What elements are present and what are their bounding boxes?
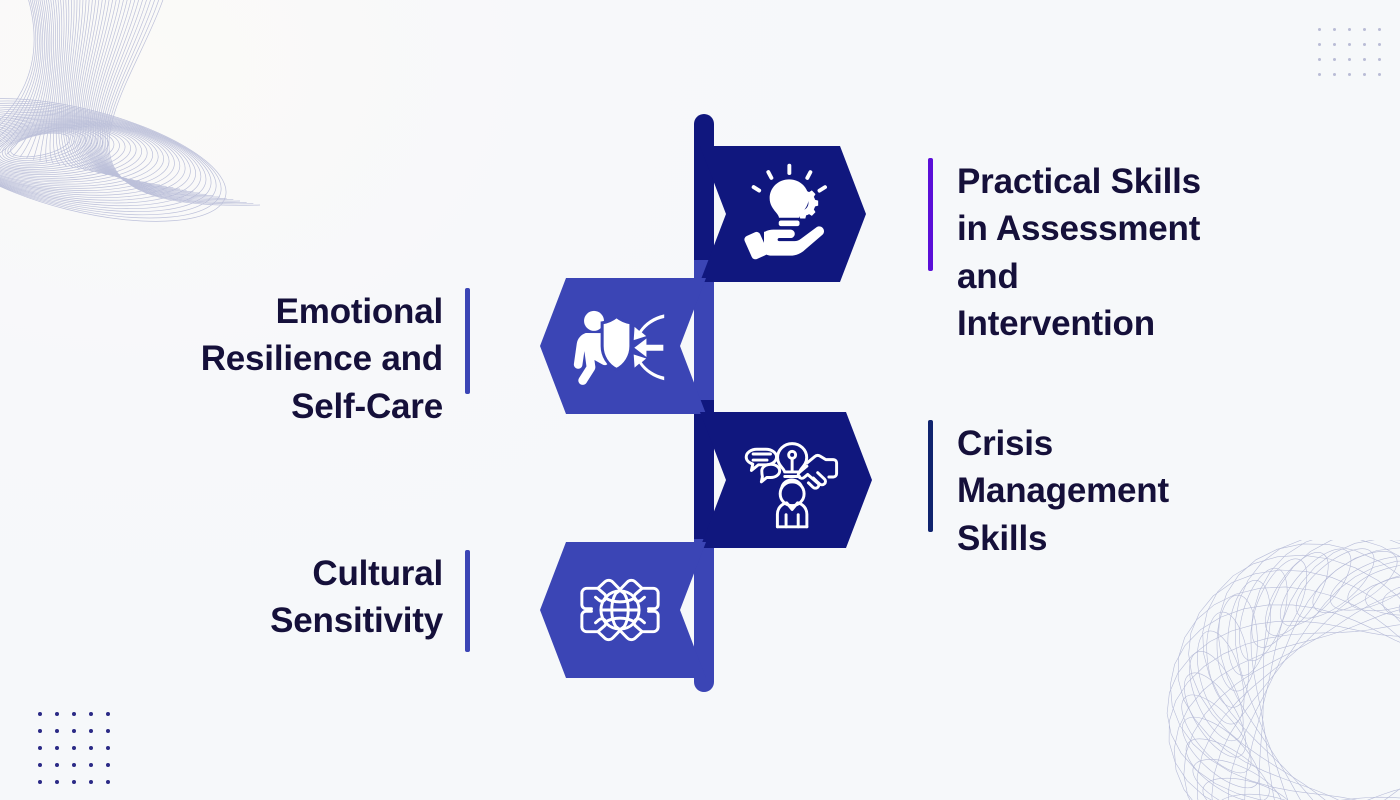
swirl-decoration-top-left: [0, 0, 300, 235]
label-crisis-management: Crisis Management Skills: [928, 420, 1328, 562]
grid-dot: [106, 729, 110, 733]
grid-dot: [1318, 43, 1321, 46]
grid-dot: [1378, 43, 1381, 46]
infographic-canvas: Practical Skills in Assessment and Inter…: [0, 0, 1400, 800]
grid-dot: [1348, 73, 1351, 76]
flag-cultural-sensitivity[interactable]: [540, 542, 706, 678]
person-speech-bulb-handshake-icon: [741, 428, 845, 532]
grid-dot: [106, 780, 110, 784]
grid-dot: [106, 746, 110, 750]
grid-dot: [1318, 28, 1321, 31]
grid-dot: [72, 729, 76, 733]
grid-dot: [106, 763, 110, 767]
hand-lightbulb-gear-icon: [738, 162, 842, 266]
dot-grid-top-right: [1318, 28, 1393, 88]
grid-dot: [1333, 73, 1336, 76]
label-practical-skills: Practical Skills in Assessment and Inter…: [928, 158, 1328, 347]
accent-bar-cultural: [465, 550, 470, 652]
grid-dot: [55, 763, 59, 767]
grid-dot: [55, 712, 59, 716]
label-cultural-sensitivity: Cultural Sensitivity: [170, 550, 470, 652]
grid-dot: [1333, 28, 1336, 31]
grid-dot: [1378, 73, 1381, 76]
grid-dot: [1363, 58, 1366, 61]
grid-dot: [1318, 58, 1321, 61]
dot-grid-bottom-left: [38, 712, 123, 797]
grid-dot: [1348, 28, 1351, 31]
grid-dot: [1363, 73, 1366, 76]
accent-bar-crisis: [928, 420, 933, 532]
grid-dot: [55, 746, 59, 750]
grid-dot: [1333, 43, 1336, 46]
flag-crisis-management[interactable]: [700, 412, 872, 548]
grid-dot: [1333, 58, 1336, 61]
accent-bar-practical: [928, 158, 933, 271]
flag-emotional-resilience[interactable]: [540, 278, 706, 414]
label-text-emotional: Emotional Resilience and Self-Care: [201, 288, 443, 430]
label-text-practical: Practical Skills in Assessment and Inter…: [957, 158, 1201, 347]
mesh-torus-decoration-bottom-right: [1100, 540, 1400, 800]
grid-dot: [72, 780, 76, 784]
grid-dot: [38, 780, 42, 784]
label-emotional-resilience: Emotional Resilience and Self-Care: [110, 288, 470, 430]
grid-dot: [1378, 58, 1381, 61]
grid-dot: [89, 746, 93, 750]
grid-dot: [38, 763, 42, 767]
grid-dot: [89, 729, 93, 733]
grid-dot: [1348, 58, 1351, 61]
grid-dot: [55, 780, 59, 784]
grid-dot: [38, 712, 42, 716]
grid-dot: [1318, 73, 1321, 76]
grid-dot: [89, 712, 93, 716]
grid-dot: [106, 712, 110, 716]
accent-bar-emotional: [465, 288, 470, 394]
grid-dot: [55, 729, 59, 733]
grid-dot: [72, 712, 76, 716]
grid-dot: [38, 729, 42, 733]
hands-around-globe-icon: [568, 558, 672, 662]
grid-dot: [89, 763, 93, 767]
flag-practical-skills[interactable]: [700, 146, 866, 282]
person-shield-arrows-icon: [568, 294, 672, 398]
grid-dot: [1363, 43, 1366, 46]
grid-dot: [38, 746, 42, 750]
label-text-crisis: Crisis Management Skills: [957, 420, 1169, 562]
grid-dot: [89, 780, 93, 784]
grid-dot: [1378, 28, 1381, 31]
grid-dot: [1348, 43, 1351, 46]
grid-dot: [72, 746, 76, 750]
label-text-cultural: Cultural Sensitivity: [270, 550, 443, 645]
grid-dot: [1363, 28, 1366, 31]
grid-dot: [72, 763, 76, 767]
